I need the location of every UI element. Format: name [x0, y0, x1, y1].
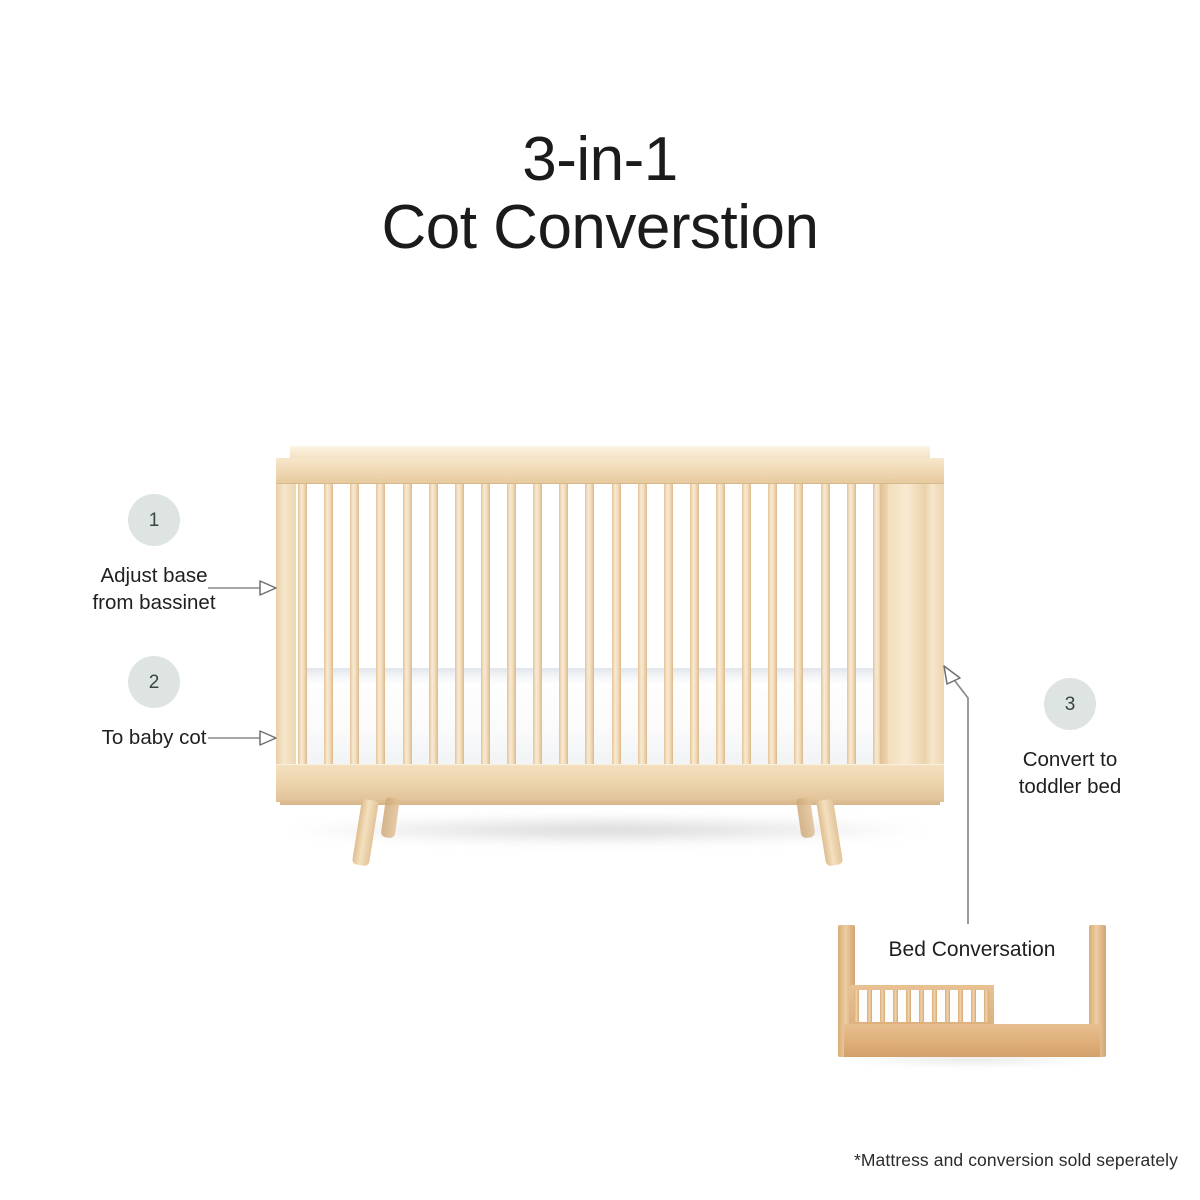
- cot-slat: [324, 480, 333, 776]
- toddler-bed-shadow: [844, 1056, 1100, 1066]
- cot-slat: [742, 480, 751, 776]
- cot-slat: [638, 480, 647, 776]
- page-title: 3-in-1 Cot Converstion: [0, 126, 1200, 262]
- toddler-bed-slat: [880, 990, 885, 1022]
- cot-slat: [429, 480, 438, 776]
- bed-conversation-label: Bed Conversation: [838, 937, 1106, 963]
- footnote-disclaimer: *Mattress and conversion sold seperately: [854, 1150, 1178, 1171]
- cot-illustration: [276, 446, 944, 866]
- cot-slat-group: [298, 480, 882, 776]
- toddler-bed-slat: [945, 990, 950, 1022]
- callout-3: 3 Convert to toddler bed: [975, 678, 1165, 800]
- leader-line-arrow-icon: [930, 662, 990, 932]
- cot-end-panel: [888, 468, 928, 790]
- cot-slat: [612, 480, 621, 776]
- toddler-bed-slat: [867, 990, 872, 1022]
- cot-top-rail: [276, 458, 944, 484]
- cot-slat: [481, 480, 490, 776]
- toddler-bed-slat: [932, 990, 937, 1022]
- cot-slat: [350, 480, 359, 776]
- toddler-bed-slat: [984, 990, 989, 1022]
- arrow-right-icon: [208, 578, 278, 598]
- title-line-1: 3-in-1: [0, 126, 1200, 194]
- cot-slat: [455, 480, 464, 776]
- callout-3-badge: 3: [1044, 678, 1096, 730]
- callout-2-badge: 2: [128, 656, 180, 708]
- title-line-2: Cot Converstion: [0, 194, 1200, 262]
- callout-3-label: Convert to toddler bed: [975, 746, 1165, 800]
- cot-slat: [690, 480, 699, 776]
- cot-slat: [559, 480, 568, 776]
- cot-slat: [768, 480, 777, 776]
- infographic-canvas: 3-in-1 Cot Converstion: [0, 0, 1200, 1200]
- toddler-bed-base-rail: [844, 1024, 1100, 1057]
- toddler-bed-guardrail-slats: [854, 990, 989, 1022]
- cot-slat: [794, 480, 803, 776]
- cot-slat: [664, 480, 673, 776]
- arrow-right-icon: [208, 728, 278, 748]
- cot-slat: [847, 480, 856, 776]
- cot-slat: [376, 480, 385, 776]
- callout-1-badge: 1: [128, 494, 180, 546]
- toddler-bed-slat: [854, 990, 859, 1022]
- cot-slat: [716, 480, 725, 776]
- toddler-bed-slat: [906, 990, 911, 1022]
- cot-slat: [298, 480, 307, 776]
- toddler-bed-slat: [971, 990, 976, 1022]
- toddler-bed-slat: [893, 990, 898, 1022]
- cot-slat: [533, 480, 542, 776]
- cot-slat: [585, 480, 594, 776]
- toddler-bed-slat: [958, 990, 963, 1022]
- cot-slat: [507, 480, 516, 776]
- cot-slat: [403, 480, 412, 776]
- toddler-bed-slat: [919, 990, 924, 1022]
- cot-bottom-rail: [276, 764, 944, 802]
- cot-slat: [821, 480, 830, 776]
- cot-left-stile: [276, 466, 296, 790]
- cot-bottom-rail-lip: [280, 798, 940, 805]
